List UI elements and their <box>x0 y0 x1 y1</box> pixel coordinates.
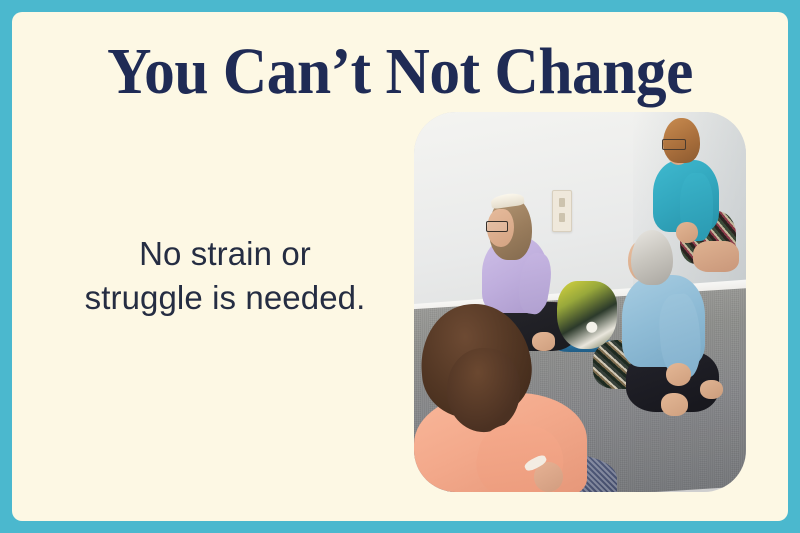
wall-outlet <box>552 190 573 232</box>
person-back-right-glasses <box>662 139 685 150</box>
person-back-right-hand <box>676 222 698 243</box>
person-front-right-hand <box>666 363 691 386</box>
photo-scene <box>414 112 746 492</box>
page-title: You Can’t Not Change <box>39 38 761 105</box>
meditation-class-photo <box>414 112 746 492</box>
subtitle-line-1: No strain or <box>40 232 410 276</box>
person-back-left-foot <box>532 332 555 351</box>
person-back-left-glasses <box>486 221 509 232</box>
quote-card-graphic: You Can’t Not Change No strain or strugg… <box>0 0 800 533</box>
person-front-right-hair <box>631 230 673 285</box>
subtitle-text: No strain or struggle is needed. <box>40 232 410 319</box>
rolled-bolster <box>557 281 617 349</box>
cream-card: You Can’t Not Change No strain or strugg… <box>12 12 788 521</box>
person-front-right-foot-2 <box>700 380 723 399</box>
person-back-right-leg <box>693 241 739 271</box>
person-front-right-foot <box>661 393 688 416</box>
subtitle-line-2: struggle is needed. <box>40 276 410 320</box>
